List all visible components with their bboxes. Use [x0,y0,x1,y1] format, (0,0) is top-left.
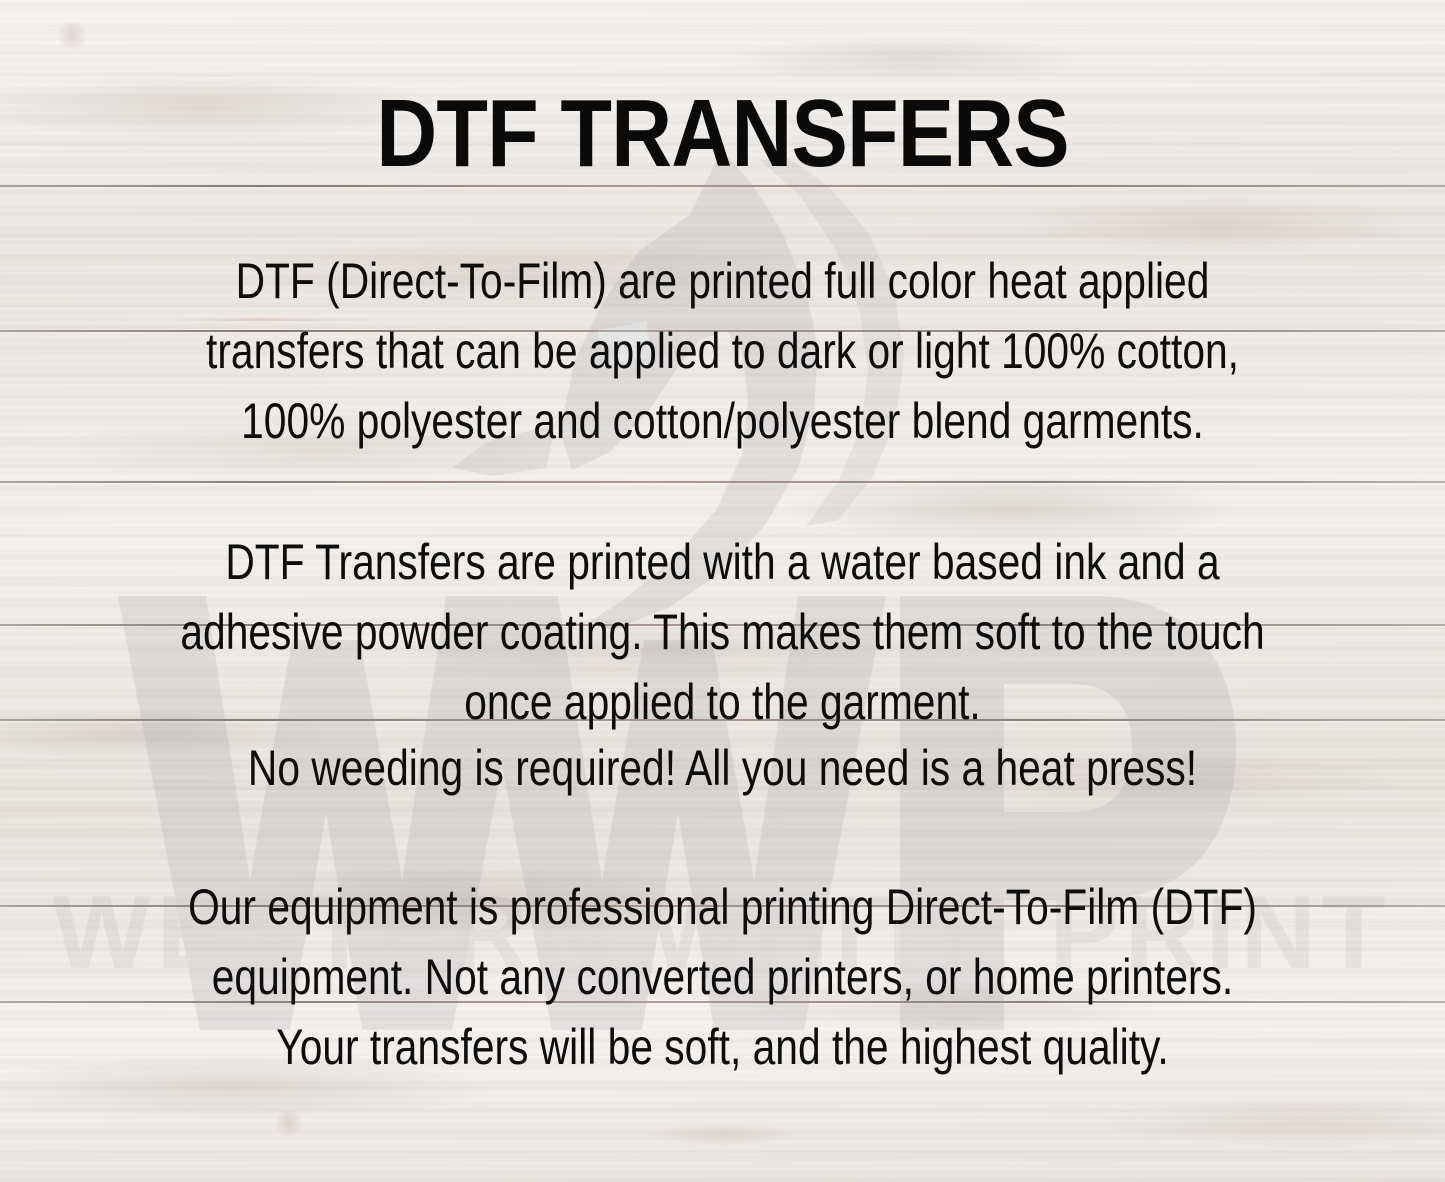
paragraph-ink-and-powder: DTF Transfers are printed with a water b… [170,527,1276,737]
product-info-graphic: WESTERN WHITE PRINT DTF TRANSFERS DTF (D… [0,0,1445,1182]
text-content: DTF TRANSFERS DTF (Direct-To-Film) are p… [0,0,1445,1182]
paragraph-no-weeding: No weeding is required! All you need is … [170,733,1276,803]
paragraph-equipment: Our equipment is professional printing D… [170,872,1276,1082]
page-title: DTF TRANSFERS [87,86,1359,182]
paragraph-description: DTF (Direct-To-Film) are printed full co… [170,246,1276,456]
